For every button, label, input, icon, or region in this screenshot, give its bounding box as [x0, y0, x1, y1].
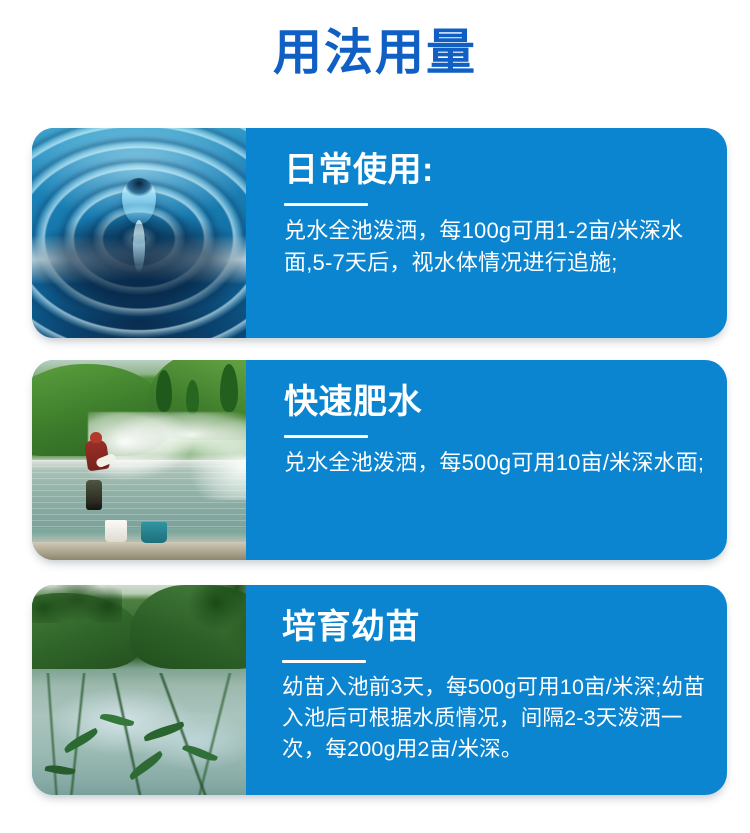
water-droplet-ripple-photo — [32, 128, 246, 338]
page-title: 用法用量 — [0, 24, 750, 82]
card-heading: 培育幼苗 — [282, 607, 723, 647]
card-heading: 日常使用: — [284, 150, 715, 190]
card-text-pane: 日常使用: 兑水全池泼洒，每100g可用1-2亩/米深水面,5-7天后，视水体情… — [246, 128, 727, 338]
card-text-pane: 快速肥水 兑水全池泼洒，每500g可用10亩/米深水面; — [246, 360, 727, 560]
card-heading: 快速肥水 — [284, 382, 715, 422]
droplet-stem — [133, 220, 145, 272]
card-body-text: 兑水全池泼洒，每500g可用10亩/米深水面; — [284, 447, 715, 479]
usage-card-nurture-fry: 培育幼苗 幼苗入池前3天，每500g可用10亩/米深;幼苗入池后可根据水质情况，… — [32, 585, 727, 795]
white-bucket — [105, 520, 127, 542]
tree-canopy-top-left — [32, 585, 122, 623]
reed-pond-landscape-photo — [32, 585, 246, 795]
usage-card-fast-fertilize-water: 快速肥水 兑水全池泼洒，每500g可用10亩/米深水面; — [32, 360, 727, 560]
usage-dosage-page: 用法用量 日常使用: 兑水全池泼洒，每100g可用1-2亩/米深水面,5-7天后… — [0, 0, 750, 833]
reed-stalks — [32, 673, 246, 795]
heading-divider — [284, 203, 368, 206]
heading-divider — [284, 435, 368, 438]
card-text-pane: 培育幼苗 幼苗入池前3天，每500g可用10亩/米深;幼苗入池后可根据水质情况，… — [246, 585, 727, 795]
person-head-with-red-cap — [90, 432, 102, 443]
dock-plank — [32, 542, 246, 560]
teal-bucket — [141, 522, 167, 543]
card-body-text: 幼苗入池前3天，每500g可用10亩/米深;幼苗入池后可根据水质情况，间隔2-3… — [282, 672, 723, 765]
usage-card-daily-use: 日常使用: 兑水全池泼洒，每100g可用1-2亩/米深水面,5-7天后，视水体情… — [32, 128, 727, 338]
person-legs — [86, 480, 102, 510]
heading-divider — [282, 660, 366, 663]
card-body-text: 兑水全池泼洒，每100g可用1-2亩/米深水面,5-7天后，视水体情况进行追施; — [284, 215, 715, 279]
farmer-broadcasting-feed-photo — [32, 360, 246, 560]
